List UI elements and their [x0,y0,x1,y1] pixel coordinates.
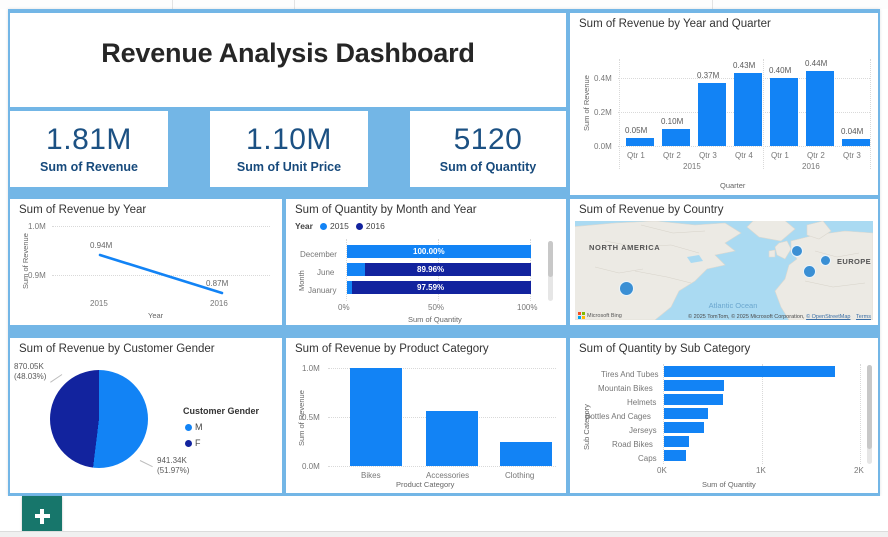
bar[interactable] [664,408,708,419]
y-tick: 0.5M [302,413,320,422]
legend-swatch-m[interactable] [185,424,192,431]
bar[interactable] [664,422,704,433]
microsoft-logo-icon [578,312,585,319]
kpi-label: Sum of Unit Price [237,160,341,174]
visual-title: Sum of Quantity by Sub Category [579,343,750,355]
legend-swatch-2015[interactable] [320,223,327,230]
bar[interactable] [664,450,686,461]
x-tick: 2015 [90,299,108,308]
vertical-scrollbar[interactable] [548,241,553,301]
bar[interactable] [662,129,690,146]
bar[interactable] [664,436,689,447]
strip-divider [294,0,295,9]
y-axis-title: Sub Category [582,404,591,450]
x-axis-title: Sum of Quantity [702,480,756,489]
bar-data-label: 0.04M [841,127,863,136]
legend-label-2015: 2015 [330,221,349,231]
gridline [618,146,870,147]
y-tick: Tires And Tubes [601,370,659,379]
bar[interactable] [770,78,798,146]
kpi-card-quantity[interactable]: 5120 Sum of Quantity [410,111,566,187]
visual-title: Sum of Revenue by Country [579,204,723,216]
x-axis-title: Sum of Quantity [408,315,462,324]
x-tick: Clothing [505,471,534,480]
line-series [10,199,282,325]
y-tick: Mountain Bikes [598,384,653,393]
x-tick: Qtr 3 [699,151,717,160]
bar[interactable] [426,411,478,466]
bing-attribution: Microsoft Bing [578,312,622,319]
gridline [328,466,556,467]
report-canvas: Revenue Analysis Dashboard 1.81M Sum of … [8,9,880,496]
visual-revenue-by-year-quarter[interactable]: Sum of Revenue by Year and Quarter Sum o… [570,13,878,195]
pie-percent-label-m: (51.97%) [157,466,189,475]
legend-swatch-f[interactable] [185,440,192,447]
bar-data-label: 100.00% [413,247,445,256]
bar[interactable] [626,138,654,147]
map-label-europe: EUROPE [837,257,871,266]
y-tick: 0.2M [594,108,612,117]
strip-divider [712,0,713,9]
visual-quantity-by-sub-category[interactable]: Sum of Quantity by Sub Category Sub Cate… [570,338,878,493]
map-label-ocean: Atlantic Ocean [703,301,763,310]
x-tick: 0% [338,303,350,312]
y-tick: 0.4M [594,74,612,83]
x-tick: Qtr 1 [627,151,645,160]
y-tick: Bottles And Cages [585,412,651,421]
leader-line [50,374,62,383]
line-data-label: 0.94M [90,241,112,250]
map-attribution: © 2025 TomTom, © 2025 Microsoft Corporat… [688,314,871,320]
legend-label-2016: 2016 [366,221,385,231]
kpi-card-revenue[interactable]: 1.81M Sum of Revenue [10,111,168,187]
legend-title: Customer Gender [183,406,259,416]
bar[interactable] [842,139,870,146]
visual-title: Sum of Revenue by Product Category [295,343,489,355]
map-bubble-united-states[interactable] [619,281,634,296]
legend[interactable]: Year 2015 2016 [295,221,385,231]
kpi-value: 5120 [454,124,523,156]
bar[interactable] [734,73,762,146]
map-bubble-germany[interactable] [820,255,831,266]
x-tick: Qtr 4 [735,151,753,160]
kpi-label: Sum of Quantity [440,160,537,174]
legend-swatch-2016[interactable] [356,223,363,230]
powerbi-report-window: Revenue Analysis Dashboard 1.81M Sum of … [0,0,888,536]
y-tick: Jerseys [629,426,657,435]
y-axis-title: Sum of Revenue [582,75,591,131]
legend-label-m: M [195,422,203,432]
bar-data-label: 97.59% [417,283,444,292]
x-tick: 50% [428,303,444,312]
x-tick: Qtr 3 [843,151,861,160]
y-tick: December [300,250,337,259]
bar[interactable] [664,394,723,405]
y-tick: Road Bikes [612,440,653,449]
x-axis-title: Product Category [396,480,454,489]
strip-divider [172,0,173,9]
x-tick: 2K [854,466,864,475]
add-button[interactable] [22,496,62,536]
visual-revenue-by-customer-gender[interactable]: Sum of Revenue by Customer Gender 870.05… [10,338,282,493]
legend-item-f[interactable]: F [185,438,201,448]
kpi-card-unit-price[interactable]: 1.10M Sum of Unit Price [210,111,368,187]
x-tick: 100% [517,303,537,312]
scrollbar-thumb [548,241,553,277]
bar-data-label: 0.44M [805,59,827,68]
group-separator [619,59,620,169]
visual-quantity-by-month-year[interactable]: Sum of Quantity by Month and Year Year 2… [286,199,566,325]
pie-data-label-m: 941.34K [157,456,187,465]
y-tick: Caps [638,454,657,463]
bar-segment-2015[interactable] [347,263,365,276]
y-tick: June [317,268,334,277]
x-tick: Bikes [361,471,381,480]
kpi-label: Sum of Revenue [40,160,138,174]
vertical-scrollbar[interactable] [867,365,872,464]
x-tick: 2016 [210,299,228,308]
legend-title: Year [295,221,313,231]
leader-line [140,460,153,467]
y-tick: 1.0M [302,364,320,373]
x-tick: Qtr 2 [663,151,681,160]
kpi-value: 1.10M [246,124,332,156]
x-tick: 1K [756,466,766,475]
visual-revenue-by-country-map[interactable]: Sum of Revenue by Country [570,199,878,325]
visual-revenue-by-product-category[interactable]: Sum of Revenue by Product Category Sum o… [286,338,566,493]
bar-data-label: 0.40M [769,66,791,75]
report-title-card: Revenue Analysis Dashboard [10,13,566,107]
below-canvas-area [0,496,888,531]
legend-item-m[interactable]: M [185,422,203,432]
bar[interactable] [806,71,834,146]
canvas-left-margin [0,9,8,496]
x-tick: 0K [657,466,667,475]
kpi-value: 1.81M [46,124,132,156]
pie-percent-label-f: (48.03%) [14,372,46,381]
bar[interactable] [500,442,552,466]
bar-data-label: 0.10M [661,117,683,126]
pie-data-label-f: 870.05K [14,362,44,371]
scrollbar-thumb [867,365,872,449]
y-tick: 0.0M [302,462,320,471]
y-tick: Helmets [627,398,656,407]
openstreetmap-link[interactable]: © OpenStreetMap [806,314,850,320]
bottom-status-bar [0,531,888,537]
map-bubble-france[interactable] [803,265,816,278]
top-strip [0,0,888,9]
y-tick: January [308,286,336,295]
visual-title: Sum of Quantity by Month and Year [295,204,477,216]
canvas-right-margin [880,9,888,496]
legend-label-f: F [195,438,201,448]
visual-title: Sum of Revenue by Customer Gender [19,343,215,355]
bar[interactable] [664,380,724,391]
bar[interactable] [664,366,835,377]
terms-link[interactable]: Terms [856,314,871,320]
visual-revenue-by-year[interactable]: Sum of Revenue by Year Sum of Revenue Ye… [10,199,282,325]
map-bubble-united-kingdom[interactable] [791,245,803,257]
bar-data-label: 89.96% [417,265,444,274]
group-separator [870,59,871,169]
x-tick: Accessories [426,471,469,480]
page-title: Revenue Analysis Dashboard [101,38,474,69]
visual-title: Sum of Revenue by Year and Quarter [579,18,771,30]
map-label-north-america: NORTH AMERICA [589,243,660,252]
bar[interactable] [698,83,726,146]
plus-icon [35,509,50,524]
bar-data-label: 0.05M [625,126,647,135]
bar-data-label: 0.37M [697,71,719,80]
bar-data-label: 0.43M [733,61,755,70]
y-axis-title: Month [297,270,306,291]
bar[interactable] [350,368,402,466]
line-data-label: 0.87M [206,279,228,288]
y-tick: 0.0M [594,142,612,151]
gridline [860,364,861,464]
bar-segment-2016[interactable] [365,263,531,276]
pie-chart[interactable] [50,370,148,468]
x-group-label: 2015 [683,162,701,171]
x-group-label: 2016 [802,162,820,171]
map-provider-label: Microsoft Bing [587,313,622,319]
map-viewport[interactable]: NORTH AMERICA EUROPE Atlantic Ocean Micr… [575,221,873,320]
x-tick: Qtr 1 [771,151,789,160]
x-tick: Qtr 2 [807,151,825,160]
gridline [762,364,763,464]
x-axis-title: Quarter [720,181,745,190]
attribution-text: © 2025 TomTom, © 2025 Microsoft Corporat… [688,314,805,320]
group-separator [763,59,764,169]
